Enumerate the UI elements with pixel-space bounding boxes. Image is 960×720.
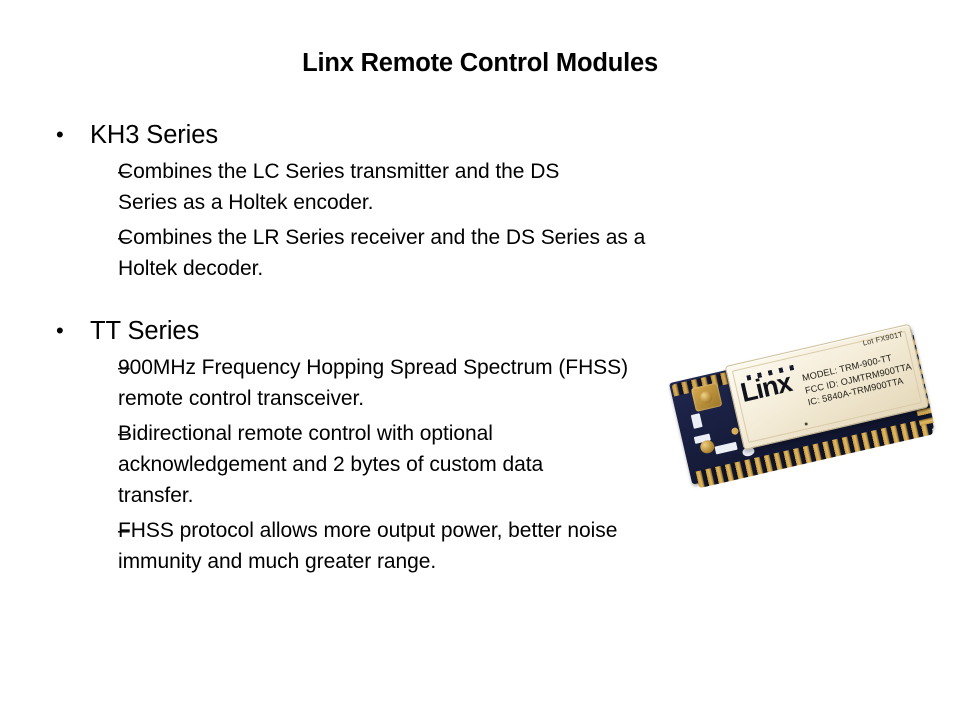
bullet-dot-icon: • xyxy=(48,314,90,348)
sub-bullet-text: FHSS protocol allows more output power, … xyxy=(118,515,618,577)
dash-marker-icon: – xyxy=(48,222,118,253)
slide: Linx Remote Control Modules • KH3 Series… xyxy=(0,0,960,720)
sub-bullet: – Combines the LR Series receiver and th… xyxy=(48,222,708,284)
sub-bullet: – Combines the LC Series transmitter and… xyxy=(48,156,708,218)
section-heading: TT Series xyxy=(90,314,199,348)
sub-bullet-text: Combines the LC Series transmitter and t… xyxy=(118,156,618,218)
sub-bullet: – Bidirectional remote control with opti… xyxy=(48,418,708,511)
section-heading: KH3 Series xyxy=(90,118,218,152)
bullet-dot-icon: • xyxy=(48,118,90,152)
product-photo-rf-module: Lot FX901T Linx MODEL: TRM-900-TT FCC ID… xyxy=(660,328,950,498)
sub-bullet: – FHSS protocol allows more output power… xyxy=(48,515,708,577)
dash-marker-icon: – xyxy=(48,515,118,546)
dash-marker-icon: – xyxy=(48,156,118,187)
bullet-tt-series: • TT Series xyxy=(48,314,708,348)
sub-bullet-text: 900MHz Frequency Hopping Spread Spectrum… xyxy=(118,352,648,414)
section-tt-series: • TT Series – 900MHz Frequency Hopping S… xyxy=(48,314,708,577)
sub-bullet: – 900MHz Frequency Hopping Spread Spectr… xyxy=(48,352,708,414)
sub-bullet-text: Bidirectional remote control with option… xyxy=(118,418,618,511)
section-kh3-series: • KH3 Series – Combines the LC Series tr… xyxy=(48,118,708,284)
dash-marker-icon: – xyxy=(48,418,118,449)
slide-body: • KH3 Series – Combines the LC Series tr… xyxy=(48,118,708,577)
sub-bullet-text: Combines the LR Series receiver and the … xyxy=(118,222,678,284)
module-body: Lot FX901T Linx MODEL: TRM-900-TT FCC ID… xyxy=(669,327,935,488)
bullet-kh3-series: • KH3 Series xyxy=(48,118,708,152)
page-title: Linx Remote Control Modules xyxy=(0,48,960,79)
dash-marker-icon: – xyxy=(48,352,118,383)
